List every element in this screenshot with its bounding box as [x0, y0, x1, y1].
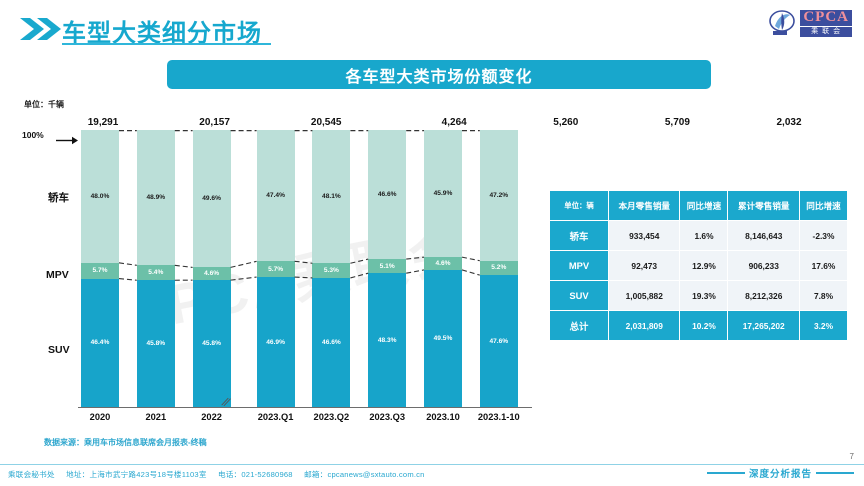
retail-sales-table: 单位：辆本月零售销量同比增速累计零售销量同比增速 轿车933,4541.6%8,…: [549, 190, 848, 341]
x-axis-tick-label: 2022: [184, 412, 240, 422]
segment-value-label: 45.8%: [202, 340, 221, 347]
x-axis-tick-label: 2023.Q1: [248, 412, 304, 422]
x-axis-tick-label: 2021: [128, 412, 184, 422]
segment-value-label: 5.7%: [92, 267, 107, 274]
segment-value-label: 4.6%: [435, 260, 450, 267]
segment-value-label: 45.8%: [146, 340, 165, 347]
page-number: 7: [850, 452, 854, 461]
segment-value-label: 46.6%: [322, 339, 341, 346]
title-underline: [62, 43, 271, 45]
bar-segment-suv: 46.9%: [257, 277, 295, 407]
x-axis-tick-label: 2020: [72, 412, 128, 422]
bar-total-label: 19,291: [84, 117, 122, 128]
bar-segment-mpv: 5.2%: [480, 261, 518, 275]
table-cell: 92,473: [609, 251, 679, 280]
table-head: 单位：辆本月零售销量同比增速累计零售销量同比增速: [550, 191, 847, 220]
bar-segment-sedan: 46.6%: [368, 130, 406, 259]
table-cell: 8,146,643: [728, 221, 798, 250]
bar-column: 48.1%5.3%46.6%5,260: [312, 130, 350, 407]
bar-segment-suv: 48.3%: [368, 273, 406, 407]
segment-value-label: 5.4%: [148, 269, 163, 276]
bar-segment-suv: 45.8%: [137, 280, 175, 407]
bar-segment-mpv: 4.6%: [193, 267, 231, 280]
table-row-label: 总计: [550, 311, 608, 340]
footer-contact: 乘联会秘书处 地址：上海市武宁路423号18号楼1103室 电话：021-526…: [8, 469, 434, 480]
bar-segment-suv: 46.4%: [81, 279, 119, 407]
bar-column: 48.9%5.4%45.8%20,157: [137, 130, 175, 407]
table-unit-header: 单位：辆: [550, 191, 608, 220]
bar-segment-suv: 46.6%: [312, 278, 350, 407]
footer-email: 邮箱：cpcanews@sxtauto.com.cn: [304, 470, 425, 479]
bar-column: 48.0%5.7%46.4%19,291: [81, 130, 119, 407]
segment-value-label: 48.0%: [91, 193, 110, 200]
bar-segment-mpv: 4.6%: [424, 257, 462, 270]
bar-total-label: 5,260: [547, 117, 585, 128]
chart-baseline: [78, 407, 532, 408]
cpca-logo-icon: [769, 10, 797, 37]
segment-value-label: 47.6%: [489, 338, 508, 345]
bar-total-label: 20,545: [307, 117, 345, 128]
logo-brand-cn: 乘联会: [800, 27, 852, 37]
bar-total-label: 2,032: [770, 117, 808, 128]
bar-segment-suv: 45.8%: [193, 280, 231, 407]
table-row: SUV1,005,88219.3%8,212,3267.8%: [550, 281, 847, 310]
chart-title-banner: 各车型大类市场份额变化: [167, 60, 711, 89]
table-column-header: 本月零售销量: [609, 191, 679, 220]
segment-value-label: 47.2%: [489, 192, 508, 199]
table-column-header: 同比增速: [800, 191, 847, 220]
bar-column: 46.6%5.1%48.3%5,709: [368, 130, 406, 407]
axis-top-percent-label: 100%: [22, 130, 44, 140]
x-axis-tick-label: 2023.Q2: [303, 412, 359, 422]
table-cell: 7.8%: [800, 281, 847, 310]
segment-value-label: 5.7%: [268, 266, 283, 273]
segment-value-label: 46.6%: [378, 191, 397, 198]
x-axis-tick-label: 2023.Q3: [359, 412, 415, 422]
footer-line-right: [816, 472, 854, 473]
bar-column: 47.4%5.7%46.9%4,264: [257, 130, 295, 407]
segment-value-label: 5.3%: [324, 267, 339, 274]
bar-column: 45.9%4.6%49.5%2,032: [424, 130, 462, 407]
double-chevron-right-icon: [20, 17, 62, 41]
segment-value-label: 5.2%: [491, 264, 506, 271]
footer-report-label: 深度分析报告: [707, 466, 854, 480]
bar-segment-mpv: 5.7%: [257, 261, 295, 277]
footer-report-text: 深度分析报告: [749, 466, 812, 480]
chart-plot-area: 48.0%5.7%46.4%19,29148.9%5.4%45.8%20,157…: [78, 130, 532, 407]
bar-segment-mpv: 5.3%: [312, 263, 350, 278]
footer-phone: 电话：021-52680968: [218, 470, 293, 479]
segment-value-label: 48.3%: [378, 337, 397, 344]
table-row: 轿车933,4541.6%8,146,643-2.3%: [550, 221, 847, 250]
table-row: 总计2,031,80910.2%17,265,2023.2%: [550, 311, 847, 340]
bar-column: 47.2%5.2%47.6%17,265: [480, 130, 518, 407]
slide-root: 车型大类细分市场 CPCA 乘联会 各车型大类市场份额变化 单位：千辆 PCA乘…: [0, 0, 864, 486]
source-note: 数据来源：乘用车市场信息联席会月报表-终稿: [44, 437, 207, 448]
table-row-label: SUV: [550, 281, 608, 310]
table-row-label: MPV: [550, 251, 608, 280]
axis-arrow-icon: [56, 132, 78, 141]
table-column-header: 累计零售销量: [728, 191, 798, 220]
bar-segment-sedan: 48.9%: [137, 130, 175, 265]
table-cell: 906,233: [728, 251, 798, 280]
table-cell: 933,454: [609, 221, 679, 250]
table-cell: 1,005,882: [609, 281, 679, 310]
stacked-bar-chart: 100% 轿车 MPV SUV 48.0%5.7%46.4%19,29148.9…: [22, 118, 532, 418]
footer-divider: [0, 464, 864, 465]
chart-unit-label: 单位：千辆: [24, 99, 64, 110]
segment-value-label: 48.9%: [146, 194, 165, 201]
bar-segment-mpv: 5.7%: [81, 263, 119, 279]
bar-segment-mpv: 5.4%: [137, 265, 175, 280]
table-cell: 12.9%: [680, 251, 727, 280]
table-cell: 17,265,202: [728, 311, 798, 340]
bar-column: 49.6%4.6%45.8%20,545: [193, 130, 231, 407]
bar-segment-sedan: 49.6%: [193, 130, 231, 267]
cpca-logo-text: CPCA 乘联会: [800, 10, 852, 37]
table-cell: 19.3%: [680, 281, 727, 310]
bar-segment-sedan: 47.2%: [480, 130, 518, 261]
footer-org: 乘联会秘书处: [8, 470, 55, 479]
table-cell: 3.2%: [800, 311, 847, 340]
table-body: 轿车933,4541.6%8,146,643-2.3%MPV92,47312.9…: [550, 221, 847, 340]
segment-value-label: 49.5%: [434, 335, 453, 342]
footer-address: 地址：上海市武宁路423号18号楼1103室: [66, 470, 207, 479]
segment-value-label: 5.1%: [380, 263, 395, 270]
table-cell: 10.2%: [680, 311, 727, 340]
table-cell: 8,212,326: [728, 281, 798, 310]
table-row: MPV92,47312.9%906,23317.6%: [550, 251, 847, 280]
table-cell: -2.3%: [800, 221, 847, 250]
bar-total-label: 5,709: [658, 117, 696, 128]
bar-total-label: 20,157: [196, 117, 234, 128]
segment-value-label: 47.4%: [266, 192, 285, 199]
bar-segment-sedan: 48.1%: [312, 130, 350, 263]
segment-value-label: 4.6%: [204, 270, 219, 277]
table-cell: 2,031,809: [609, 311, 679, 340]
segment-value-label: 49.6%: [202, 195, 221, 202]
footer-line-left: [707, 472, 745, 473]
x-axis-tick-label: 2023.1-10: [471, 412, 527, 422]
table-column-header: 同比增速: [680, 191, 727, 220]
bar-segment-sedan: 48.0%: [81, 130, 119, 263]
segment-value-label: 46.4%: [91, 339, 110, 346]
segment-value-label: 45.9%: [434, 190, 453, 197]
bar-segment-sedan: 47.4%: [257, 130, 295, 261]
cpca-logo: CPCA 乘联会: [769, 10, 852, 37]
x-axis-tick-label: 2023.10: [415, 412, 471, 422]
bar-segment-sedan: 45.9%: [424, 130, 462, 257]
bar-total-label: 4,264: [435, 117, 473, 128]
table-cell: 17.6%: [800, 251, 847, 280]
logo-brand: CPCA: [800, 10, 852, 27]
bar-segment-suv: 47.6%: [480, 275, 518, 407]
table-row-label: 轿车: [550, 221, 608, 250]
segment-value-label: 46.9%: [266, 339, 285, 346]
bar-segment-suv: 49.5%: [424, 270, 462, 407]
table-header-row: 单位：辆本月零售销量同比增速累计零售销量同比增速: [550, 191, 847, 220]
table-cell: 1.6%: [680, 221, 727, 250]
bar-segment-mpv: 5.1%: [368, 259, 406, 273]
segment-value-label: 48.1%: [322, 193, 341, 200]
